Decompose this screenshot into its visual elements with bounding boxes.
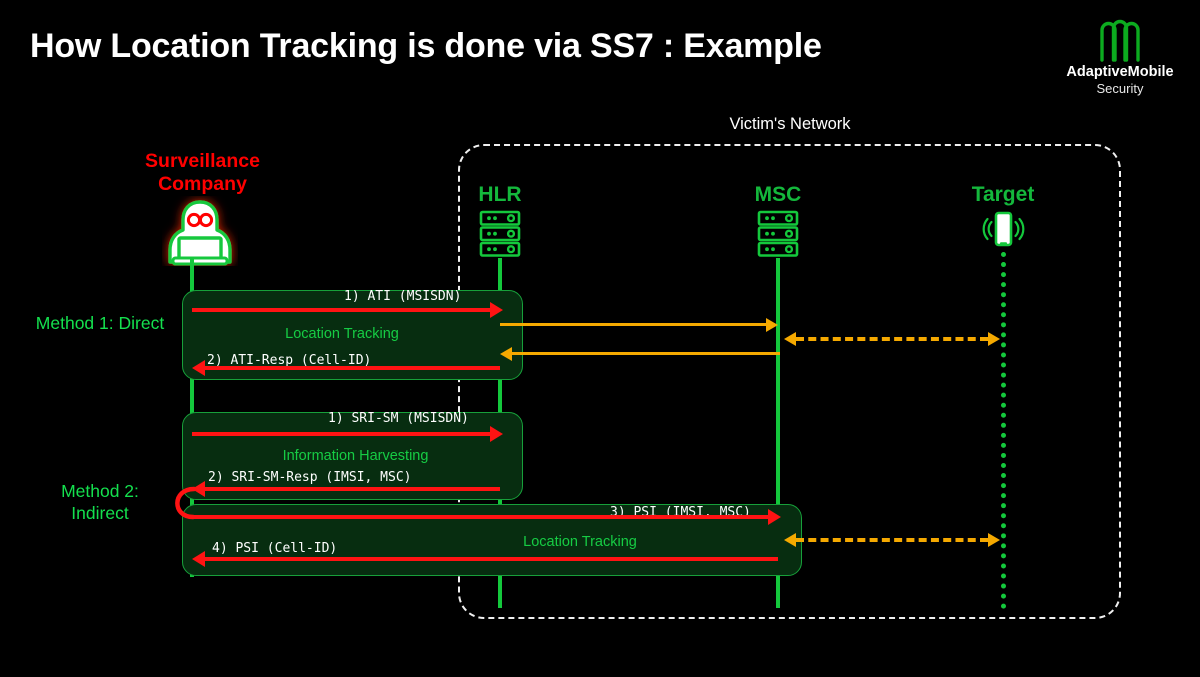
message-arrow-m2-2 bbox=[204, 487, 500, 491]
slide-canvas: How Location Tracking is done via SS7 : … bbox=[0, 0, 1200, 677]
node-label-hlr: HLR bbox=[430, 183, 570, 207]
method-2-label: Method 2: Indirect bbox=[20, 480, 180, 524]
message-label-m2-2: 2) SRI-SM-Resp (IMSI, MSC) bbox=[208, 470, 412, 485]
arrowhead-m1-msc-target-right bbox=[988, 332, 1000, 346]
attacker-label-line1: Surveillance bbox=[120, 150, 285, 173]
internal-flow-m1-hlr-to-msc bbox=[500, 323, 768, 326]
arrowhead-m1-1 bbox=[490, 302, 503, 318]
message-arrow-m2-1 bbox=[192, 432, 494, 436]
message-arrow-m2-4 bbox=[204, 557, 778, 561]
method-2-label-line1: Method 2: bbox=[20, 480, 180, 502]
hacker-icon bbox=[162, 196, 238, 266]
server-icon-hlr bbox=[478, 210, 522, 260]
brand-logo: AdaptiveMobile Security bbox=[1055, 14, 1185, 106]
arrowhead-m1-msc-to-hlr bbox=[500, 347, 512, 361]
method-1-label: Method 1: Direct bbox=[20, 312, 180, 334]
arrowhead-m1-msc-target-left bbox=[784, 332, 796, 346]
attacker-label-line2: Company bbox=[120, 173, 285, 196]
node-label-target: Target bbox=[933, 183, 1073, 207]
method-2-label-line2: Indirect bbox=[20, 502, 180, 524]
method-1-caption: Location Tracking bbox=[182, 326, 502, 342]
arrowhead-m1-hlr-to-msc bbox=[766, 318, 778, 332]
arrowhead-m2-3 bbox=[768, 509, 781, 525]
internal-flow-m1-msc-target bbox=[796, 337, 988, 341]
message-label-m2-4: 4) PSI (Cell-ID) bbox=[212, 541, 337, 556]
method-2-tracking-caption: Location Tracking bbox=[430, 534, 730, 550]
message-label-m2-1: 1) SRI-SM (MSISDN) bbox=[328, 411, 469, 426]
internal-flow-m1-msc-to-hlr bbox=[512, 352, 780, 355]
attacker-label: Surveillance Company bbox=[120, 150, 285, 196]
loop-connector bbox=[160, 480, 220, 526]
logo-name: AdaptiveMobile bbox=[1055, 64, 1185, 81]
message-label-m1-1: 1) ATI (MSISDN) bbox=[344, 289, 461, 304]
victim-network-label: Victim's Network bbox=[690, 115, 890, 134]
message-arrow-m2-3 bbox=[192, 515, 772, 519]
method-2-harvesting-caption: Information Harvesting bbox=[182, 448, 529, 464]
arrowhead-m1-2 bbox=[192, 360, 205, 376]
arrowhead-m2-msc-target-right bbox=[988, 533, 1000, 547]
logo-subname: Security bbox=[1055, 81, 1185, 97]
mobile-phone-icon-target bbox=[980, 208, 1026, 254]
message-arrow-m1-1 bbox=[192, 308, 494, 312]
adaptivemobile-m-logo-icon bbox=[1092, 14, 1148, 62]
arrowhead-m2-4 bbox=[192, 551, 205, 567]
arrowhead-m2-1 bbox=[490, 426, 503, 442]
message-arrow-m1-2 bbox=[204, 366, 500, 370]
node-label-msc: MSC bbox=[708, 183, 848, 207]
page-title: How Location Tracking is done via SS7 : … bbox=[30, 24, 1030, 68]
server-icon-msc bbox=[756, 210, 800, 260]
lifeline-target bbox=[1001, 252, 1006, 609]
internal-flow-m2-msc-target bbox=[796, 538, 988, 542]
arrowhead-m2-msc-target-left bbox=[784, 533, 796, 547]
